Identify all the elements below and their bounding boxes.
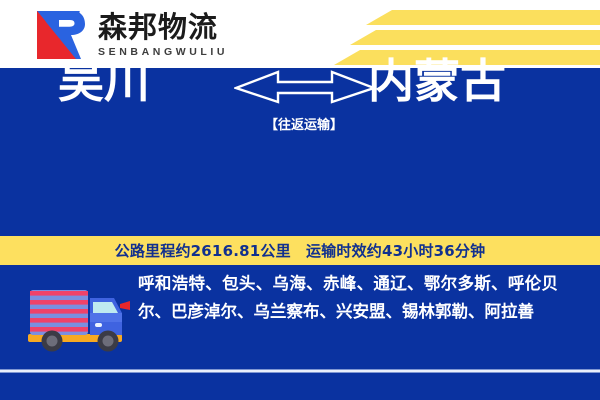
coverage-city-list: 呼和浩特、包头、乌海、赤峰、通辽、鄂尔多斯、呼伦贝尔、巴彦淖尔、乌兰察布、兴安盟… [138, 270, 558, 326]
route-row: 吴川 (直达不中转) 【往返运输】 内蒙古 [0, 36, 600, 166]
route-arrow-block: (直达不中转) 【往返运输】 [230, 36, 378, 156]
route-note-top: (直达不中转) [230, 40, 378, 59]
bottom-divider [0, 369, 600, 373]
divider-line-bottom [0, 372, 600, 373]
delivery-truck-illustration [22, 282, 134, 354]
route-info-text: 公路里程约2616.81公里 运输时效约43小时36分钟 [115, 240, 486, 261]
route-note-bottom: 【往返运输】 [230, 114, 378, 133]
bidirectional-arrow-icon [234, 66, 376, 106]
route-info-bar: 公路里程约2616.81公里 运输时效约43小时36分钟 [0, 236, 600, 265]
origin-city: 吴川 [58, 58, 150, 104]
destination-city: 内蒙古 [368, 58, 506, 104]
logistics-route-banner: 森邦物流 SENBANGWULIU 吴川 (直达不中转) 【往返运输】 内蒙古 … [0, 0, 600, 400]
